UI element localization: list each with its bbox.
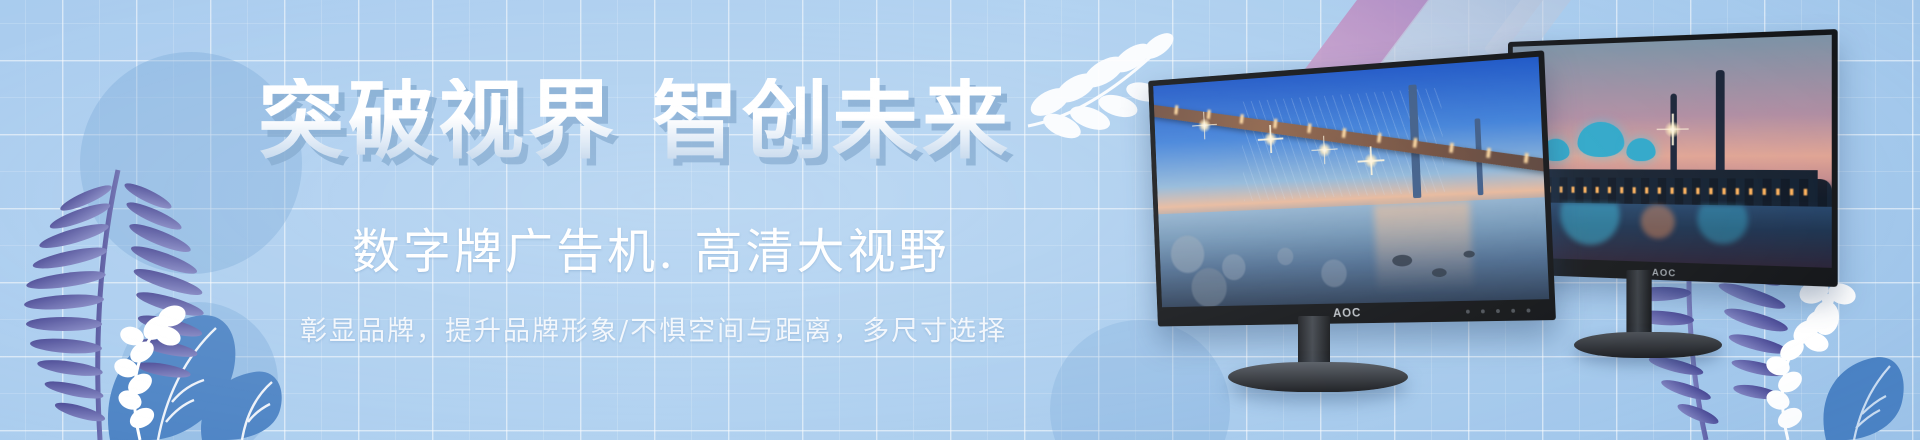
promo-banner: 突破视界 智创未来 数字牌广告机. 高清大视野 彰显品牌，提升品牌形象/不惧空间… xyxy=(0,0,1920,440)
monitor-bezel-front: AOC xyxy=(1148,50,1556,326)
page-title: 突破视界 智创未来 xyxy=(258,78,1012,164)
copy-block: 突破视界 智创未来 数字牌广告机. 高清大视野 彰显品牌，提升品牌形象/不惧空间… xyxy=(0,0,1100,440)
subtitle: 数字牌广告机. 高清大视野 xyxy=(352,228,950,276)
lamp-flare-3 xyxy=(1317,142,1332,158)
monitor-screen-front xyxy=(1153,57,1549,307)
dome-right xyxy=(1626,138,1655,161)
monitor-base-front xyxy=(1228,362,1408,392)
tagline: 彰显品牌，提升品牌形象/不惧空间与距离，多尺寸选择 xyxy=(300,318,1007,345)
light-flare xyxy=(1664,121,1681,138)
lamp-flare-1 xyxy=(1197,118,1211,134)
minaret-tall xyxy=(1716,70,1725,178)
blue-leaf-right-icon xyxy=(1823,357,1903,440)
product-monitor-front: AOC xyxy=(1100,50,1570,390)
monitor-neck-back xyxy=(1626,270,1651,340)
monitor-base-back xyxy=(1574,332,1722,358)
